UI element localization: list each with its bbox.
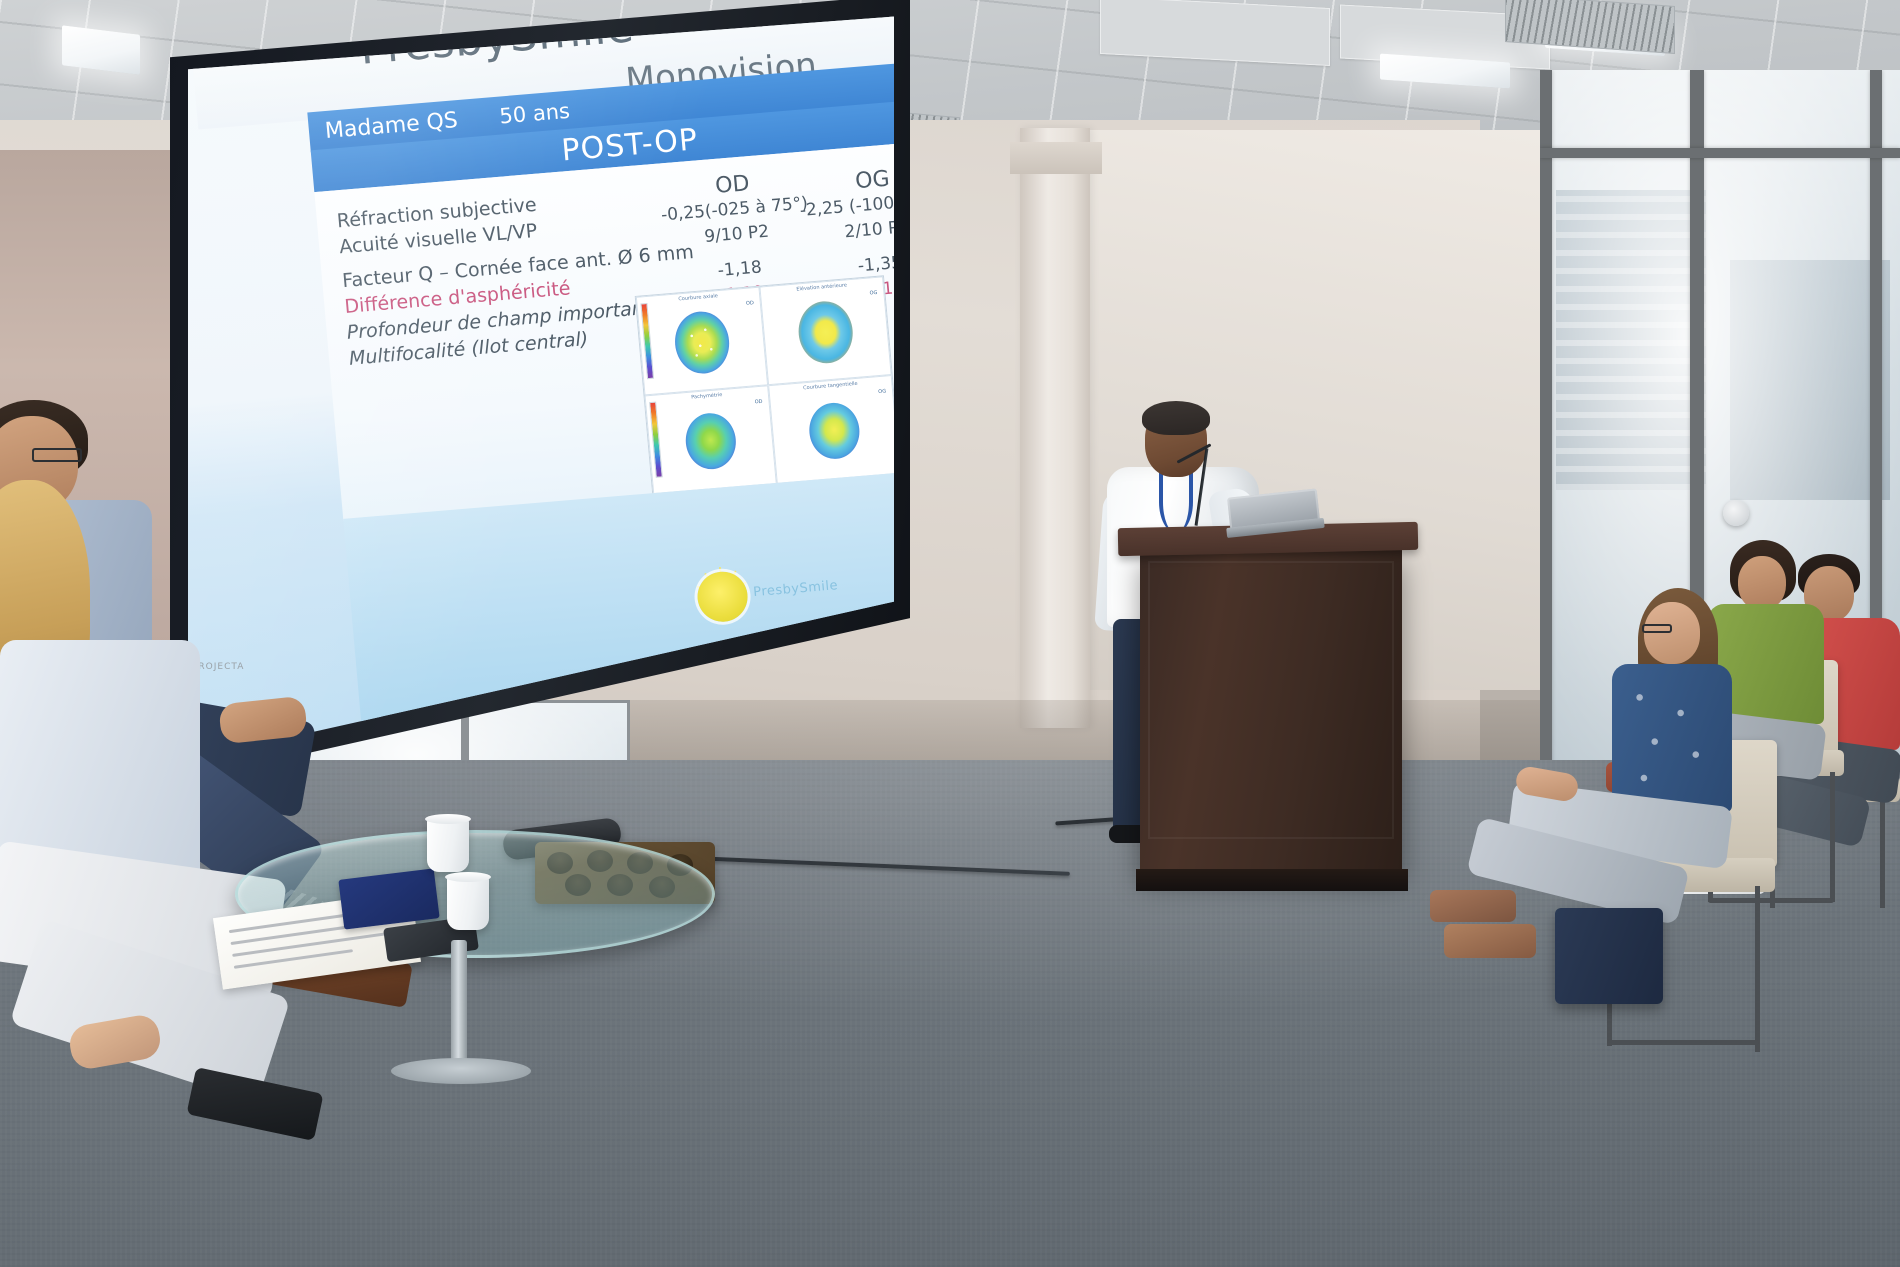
lectern — [1140, 525, 1400, 885]
topography-map: Courbure axiale OD — [636, 287, 768, 396]
measurement-labels: Réfraction subjective Acuité visuelle VL… — [336, 183, 659, 372]
lectern-base — [1136, 869, 1408, 891]
table-base — [391, 1058, 531, 1084]
wall-pillar — [1020, 128, 1090, 728]
navy-tote-bag — [1555, 908, 1663, 1004]
color-scale-bar — [649, 402, 663, 478]
topography-panel: Courbure axiale OD Elévation antérieure … — [635, 275, 894, 495]
eyeglasses — [32, 448, 82, 462]
paper-cup — [447, 876, 489, 930]
window-transom — [1540, 148, 1900, 158]
speaker-lanyard — [1159, 471, 1193, 533]
attendee-top-pattern — [1618, 674, 1726, 804]
topography-disc — [683, 412, 738, 472]
attendee-shoe — [1444, 924, 1536, 958]
eyeglasses — [1642, 624, 1672, 633]
color-scale-bar — [640, 303, 654, 379]
wall-sphere-decor — [1723, 500, 1749, 526]
topography-eye-label: OD — [746, 300, 754, 307]
glass-side-table — [235, 830, 715, 1100]
topography-map: Courbure tangentielle OG — [768, 375, 894, 484]
patient-name: Madame QS — [324, 108, 459, 144]
topography-eye-label: OD — [755, 399, 763, 406]
paper-cup — [427, 818, 469, 872]
topography-map: Pachymétrie OD — [645, 385, 777, 494]
patient-age: 50 ans — [499, 99, 571, 129]
attendee-shoe — [1430, 890, 1516, 922]
speaker-hair — [1142, 401, 1210, 435]
topography-eye-label: OG — [878, 388, 886, 395]
topography-disc — [672, 310, 731, 376]
attendee-head — [1644, 602, 1700, 664]
topography-disc — [807, 401, 862, 461]
table-stem — [451, 940, 467, 1070]
conference-room-photo: PresbySmile Monovision Madame QS 50 ans … — [0, 0, 1900, 1267]
topography-eye-label: OG — [869, 290, 877, 297]
lectern-body — [1140, 549, 1402, 869]
topography-disc — [796, 300, 855, 366]
topography-map: Elévation antérieure OG — [759, 276, 891, 385]
slide-logo: PresbySmile — [695, 562, 820, 630]
wall-box — [1010, 142, 1102, 174]
